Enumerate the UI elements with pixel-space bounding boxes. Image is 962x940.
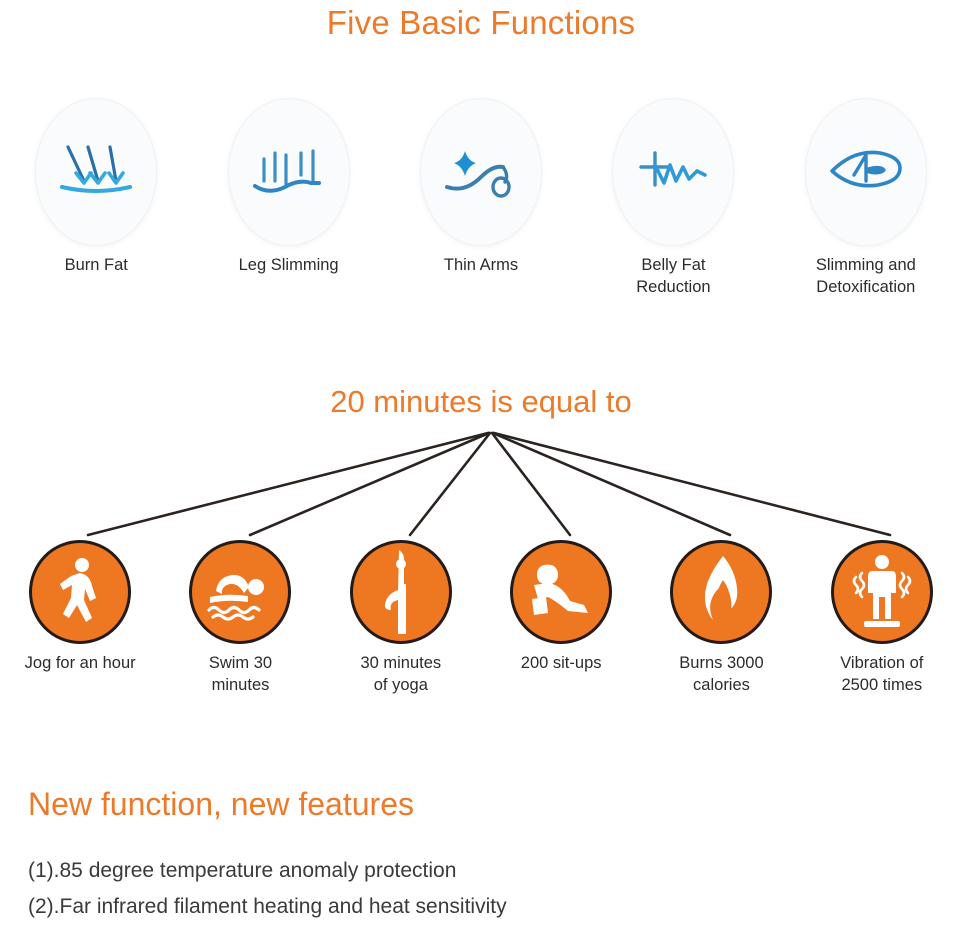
function-label-leg-slimming: Leg Slimming	[192, 255, 384, 299]
icon-bubble	[420, 98, 542, 246]
equivalence-label-yoga: 30 minutesof yoga	[321, 653, 481, 697]
function-item-belly-fat-reduction	[577, 92, 769, 252]
feature-line-1: (1).85 degree temperature anomaly protec…	[28, 858, 456, 883]
function-item-burn-fat	[0, 92, 192, 252]
equivalence-item-situps	[481, 537, 641, 647]
orange-badge	[831, 540, 933, 644]
plus-curve-drop-icon	[439, 137, 523, 207]
flame-icon	[693, 554, 749, 630]
function-label-belly-fat: Belly FatReduction	[577, 255, 769, 299]
twenty-minutes-title: 20 minutes is equal to	[0, 384, 962, 420]
icon-bubble	[612, 98, 734, 246]
orange-badge	[189, 540, 291, 644]
equivalence-icon-row	[0, 537, 962, 647]
equivalence-item-vibration	[802, 537, 962, 647]
sit-up-icon	[526, 561, 596, 623]
equivalence-item-swim	[160, 537, 320, 647]
equivalence-label-vibration: Vibration of2500 times	[802, 653, 962, 697]
orange-badge	[29, 540, 131, 644]
orange-badge	[670, 540, 772, 644]
equivalence-label-situps: 200 sit-ups	[481, 653, 641, 697]
function-label-burn-fat: Burn Fat	[0, 255, 192, 299]
icon-bubble	[35, 98, 157, 246]
equivalence-label-jog: Jog for an hour	[0, 653, 160, 697]
five-basic-functions-title: Five Basic Functions	[0, 4, 962, 42]
swimmer-icon	[204, 563, 276, 621]
vibration-person-icon	[848, 553, 916, 631]
eye-leaf-icon	[824, 137, 908, 207]
fan-lines-svg	[0, 425, 962, 550]
new-features-title: New function, new features	[28, 786, 414, 823]
fan-connector-lines	[0, 425, 962, 550]
function-item-slimming-detox	[770, 92, 962, 252]
icon-bubble	[805, 98, 927, 246]
infographic-page: Five Basic Functions	[0, 0, 962, 940]
equivalence-item-yoga	[321, 537, 481, 647]
bars-curve-icon	[247, 137, 331, 207]
icon-bubble	[228, 98, 350, 246]
down-arrows-icon	[54, 137, 138, 207]
function-label-slimming-detox: Slimming andDetoxification	[770, 255, 962, 299]
equivalence-item-jog	[0, 537, 160, 647]
equivalence-label-swim: Swim 30minutes	[160, 653, 320, 697]
function-item-leg-slimming	[192, 92, 384, 252]
orange-badge	[510, 540, 612, 644]
plus-star	[454, 151, 476, 176]
function-label-thin-arms: Thin Arms	[385, 255, 577, 299]
equivalence-label-calories: Burns 3000calories	[641, 653, 801, 697]
walking-person-icon	[52, 556, 108, 628]
orange-badge	[350, 540, 452, 644]
yoga-pose-icon	[379, 550, 423, 634]
equivalence-item-calories	[641, 537, 801, 647]
equivalence-label-row: Jog for an hour Swim 30minutes 30 minute…	[0, 653, 962, 697]
feature-line-2: (2).Far infrared filament heating and he…	[28, 894, 507, 919]
function-icon-row	[0, 92, 962, 252]
function-label-row: Burn Fat Leg Slimming Thin Arms Belly Fa…	[0, 255, 962, 299]
cross-waveform-icon	[631, 137, 715, 207]
function-item-thin-arms	[385, 92, 577, 252]
